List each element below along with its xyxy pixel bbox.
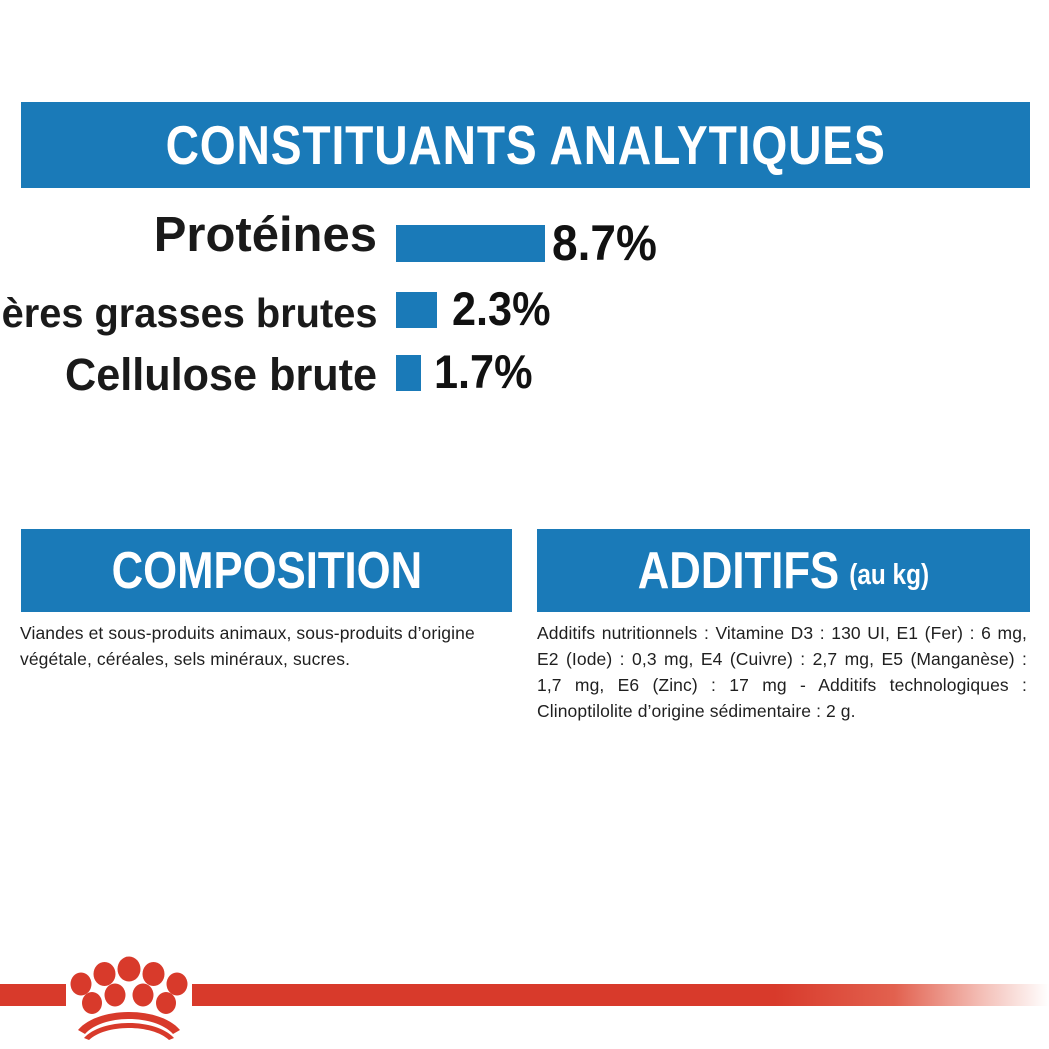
constituent-label-proteines: Protéines (154, 211, 377, 260)
composition-header: COMPOSITION (21, 529, 512, 612)
constituent-value-matieres-grasses-brutes: 2.3% (452, 285, 551, 332)
additifs-subtitle: (au kg) (849, 559, 929, 591)
constituent-bar-proteines (396, 225, 545, 262)
additifs-body-text: Additifs nutritionnels : Vitamine D3 : 1… (537, 620, 1027, 724)
constituent-bar-matieres-grasses-brutes (396, 292, 437, 328)
composition-title: COMPOSITION (111, 541, 422, 601)
analytical-constituents-title: CONSTITUANTS ANALYTIQUES (165, 113, 885, 177)
footer-rule-left (0, 984, 66, 1006)
constituent-label-cellulose-brute: Cellulose brute (65, 352, 377, 397)
analytical-constituents-header: CONSTITUANTS ANALYTIQUES (21, 102, 1030, 188)
footer-rule-right (192, 984, 1049, 1006)
additifs-title-group: ADDITIFS(au kg) (638, 541, 929, 601)
additifs-title: ADDITIFS (638, 542, 839, 600)
constituent-label-matieres-grasses-brutes: Matières grasses brutes (0, 293, 377, 334)
constituent-row-matieres-grasses-brutes: Matières grasses brutes 2.3% (0, 277, 1049, 340)
constituent-row-cellulose-brute: Cellulose brute 1.7% (0, 340, 1049, 403)
constituent-bar-cellulose-brute (396, 355, 421, 391)
constituent-value-proteines: 8.7% (552, 218, 657, 268)
analytical-constituents-chart: Protéines 8.7% Matières grasses brutes 2… (0, 205, 1049, 405)
royal-canin-crown-icon (70, 948, 188, 1040)
additifs-header: ADDITIFS(au kg) (537, 529, 1030, 612)
constituent-row-proteines: Protéines 8.7% (0, 205, 1049, 268)
constituent-value-cellulose-brute: 1.7% (434, 348, 533, 395)
composition-body-text: Viandes et sous-produits animaux, sous-p… (20, 620, 510, 672)
